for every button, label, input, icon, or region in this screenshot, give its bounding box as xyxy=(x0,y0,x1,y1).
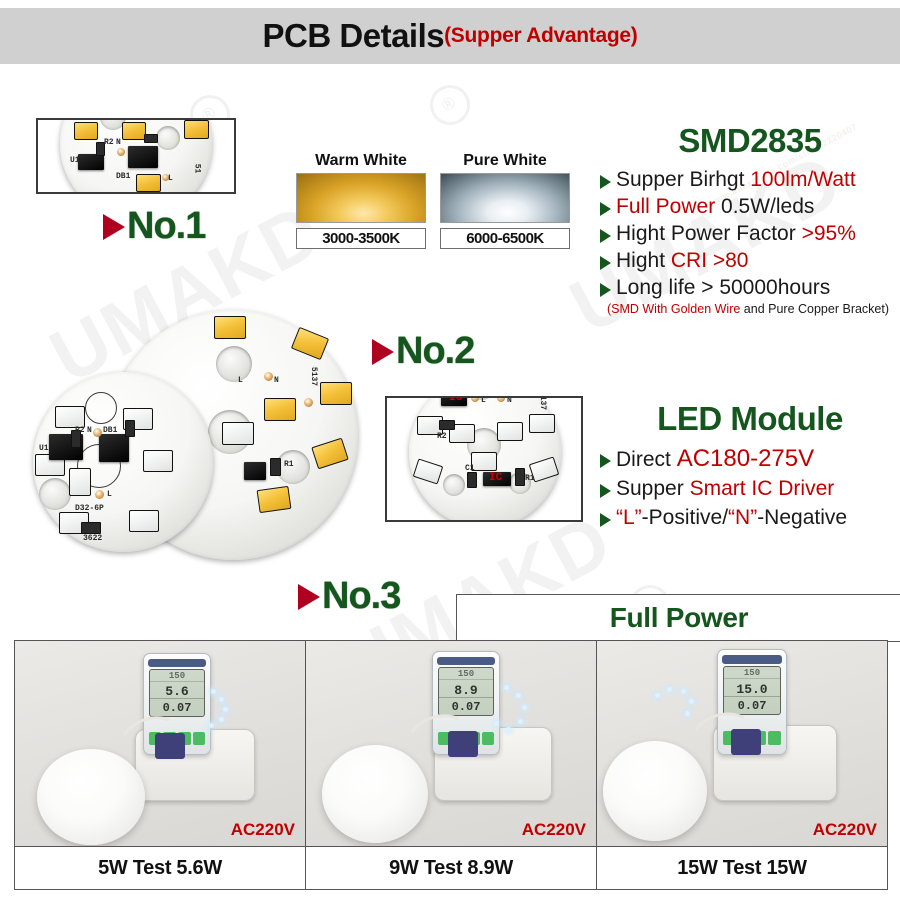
mounting-hole xyxy=(156,126,180,150)
meter-lcd: 150 8.9 0.07 xyxy=(438,667,493,716)
spec-text: 0.5W/leds xyxy=(715,195,814,218)
color-temperature-group: Warm White 3000-3500K Pure White 6000-65… xyxy=(296,152,570,249)
led-chip xyxy=(143,450,173,472)
led-chip xyxy=(311,438,349,470)
resistor xyxy=(515,468,525,486)
silkscreen-u1: U1 xyxy=(39,444,49,453)
meter-line-3: 0.07 xyxy=(439,701,492,713)
marker-no3: No.3 xyxy=(298,575,400,618)
mounting-hole xyxy=(443,474,465,496)
watermark-registered-icon: ® xyxy=(423,78,477,132)
silkscreen-l: L xyxy=(107,490,112,499)
ic-driver xyxy=(128,146,158,168)
led-chip xyxy=(136,174,161,192)
spec-highlight: Full Power xyxy=(616,195,715,218)
page-subtitle: (Supper Advantage) xyxy=(444,24,637,48)
spec-text: Supper xyxy=(616,477,690,500)
swatch-pure-white xyxy=(440,173,570,223)
meter-line-1: 150 xyxy=(150,672,203,682)
silkscreen-n: N xyxy=(87,426,92,435)
product-detail-page: UMAKD UMAKD UMAKD ® ® ® www.aliexpress.c… xyxy=(0,0,900,900)
meter-top-bar xyxy=(722,655,782,663)
meter-top-bar xyxy=(148,659,206,667)
led-module-panel: LED Module Direct AC180-275V Supper Smar… xyxy=(600,400,900,532)
smd-panel-note: (SMD With Golden Wire and Pure Copper Br… xyxy=(596,302,900,316)
meter-lcd: 150 15.0 0.07 xyxy=(723,666,780,716)
kelvin-label: 6000-6500K xyxy=(440,228,570,249)
solder-pad xyxy=(304,398,313,407)
silkscreen-c1: C1 xyxy=(465,464,475,473)
led-bulb-plate xyxy=(37,749,145,845)
swatch-title: Warm White xyxy=(296,152,426,170)
pcb-board: DB1 IC R2 L N 5137 C1 R1 IC + − xyxy=(409,396,561,522)
spec-row: “L”-Positive/“N”-Negative xyxy=(600,505,900,530)
silkscreen-u1: U1 xyxy=(70,156,80,165)
spec-text-2: -Negative xyxy=(757,506,847,529)
ic-driver xyxy=(99,434,129,462)
led-chip xyxy=(320,382,352,405)
led-chip xyxy=(222,422,254,445)
triangle-bullet-icon xyxy=(600,283,611,297)
spec-text: Long life > 50000hours xyxy=(616,276,830,299)
meter-line-2: 8.9 xyxy=(439,684,492,698)
led-chip xyxy=(69,468,91,496)
spec-highlight: Smart IC Driver xyxy=(690,477,835,500)
silkscreen-db1: DB1 xyxy=(433,396,447,401)
spec-highlight: 100lm/Watt xyxy=(750,168,855,191)
meter-line-2: 5.6 xyxy=(150,685,203,699)
silkscreen-l: L xyxy=(238,376,243,385)
note-part-a: (SMD With Golden Wire xyxy=(607,302,740,316)
led-chip xyxy=(74,122,98,140)
triangle-bullet-icon xyxy=(600,202,611,216)
led-chip xyxy=(257,486,292,513)
mounting-hole xyxy=(39,478,71,510)
resistor xyxy=(270,458,281,476)
triangle-bullet-icon xyxy=(600,175,611,189)
smd-spec-panel: SMD2835 Supper Birhgt 100lm/Watt Full Po… xyxy=(600,122,900,316)
polarity-plus-icon: + xyxy=(471,396,483,398)
silkscreen-r2: R2 xyxy=(104,138,114,147)
test-photo: 150 8.9 0.07 AC220V xyxy=(306,641,596,846)
spec-row: Supper Smart IC Driver xyxy=(600,476,900,501)
silkscreen-51: 51 xyxy=(192,164,201,174)
triangle-bullet-icon xyxy=(298,584,320,610)
resistor xyxy=(144,134,158,143)
annotation-ic-bottom: IC xyxy=(489,472,502,484)
marker-no1-label: No.1 xyxy=(127,205,205,248)
pcb-board: U1 R2 N DB1 L 51 xyxy=(60,118,212,194)
led-chip xyxy=(214,316,246,339)
spec-highlight-2: “N” xyxy=(728,506,757,529)
note-part-b: and Pure Copper Bracket) xyxy=(740,302,889,316)
led-bulb-plate xyxy=(322,745,428,843)
silkscreen-r1: R1 xyxy=(525,474,535,483)
spec-text: Direct xyxy=(616,448,677,471)
silkscreen-db1: DB1 xyxy=(116,172,130,181)
spec-highlight: CRI xyxy=(671,249,707,272)
meter-lcd: 150 5.6 0.07 xyxy=(149,669,204,717)
marker-no3-label: No.3 xyxy=(322,575,400,618)
pcb-board-cool: U1 R2 N DB1 L D32-6P 3622 xyxy=(33,372,213,552)
silkscreen-5137: 5137 xyxy=(538,396,547,410)
silkscreen-r2: R2 xyxy=(437,432,447,441)
power-test-table: 150 5.6 0.07 AC220V 5W Test 5.6W xyxy=(14,640,888,890)
annotation-ic-top: IC xyxy=(449,396,462,404)
color-temperature-warm: Warm White 3000-3500K xyxy=(296,152,426,249)
spec-row: Hight Power Factor >95% xyxy=(600,221,900,246)
silkscreen-l: L xyxy=(168,174,173,183)
resistor xyxy=(125,420,135,437)
test-caption: 5W Test 5.6W xyxy=(15,846,305,889)
full-power-label: Full Power xyxy=(610,602,749,634)
spec-highlight: “L” xyxy=(616,506,642,529)
solder-pad xyxy=(93,428,102,437)
spec-highlight: >95% xyxy=(802,222,856,245)
meter-line-2: 15.0 xyxy=(724,683,779,697)
mounting-hole xyxy=(216,346,252,382)
voltage-label: AC220V xyxy=(522,820,586,840)
led-chip xyxy=(122,122,146,140)
triangle-bullet-icon xyxy=(600,454,611,468)
marker-no2: No.2 xyxy=(372,330,474,373)
solder-pad xyxy=(497,396,505,402)
test-cell: 150 5.6 0.07 AC220V 5W Test 5.6W xyxy=(15,641,306,889)
swatch-title: Pure White xyxy=(440,152,570,170)
test-photo: 150 5.6 0.07 AC220V xyxy=(15,641,305,846)
meter-line-1: 150 xyxy=(439,670,492,680)
test-cell: 150 15.0 0.07 AC220V 15W Test 15W xyxy=(597,641,887,889)
led-chip xyxy=(184,120,209,139)
spec-row: Hight CRI >80 xyxy=(600,248,900,273)
spec-text: Hight xyxy=(616,249,671,272)
silkscreen-3622: 3622 xyxy=(83,534,102,543)
silkscreen-n: N xyxy=(274,376,279,385)
solder-pad xyxy=(117,148,125,156)
meter-line-3: 0.07 xyxy=(150,702,203,714)
led-chip xyxy=(55,406,85,428)
voltage-label: AC220V xyxy=(813,820,877,840)
triangle-bullet-icon xyxy=(600,229,611,243)
pcb-photo-no1: U1 R2 N DB1 L 51 xyxy=(36,118,236,194)
led-chip xyxy=(413,458,444,484)
color-temperature-pure: Pure White 6000-6500K xyxy=(440,152,570,249)
spec-row: Direct AC180-275V xyxy=(600,446,900,472)
triangle-bullet-icon xyxy=(600,256,611,270)
led-chip xyxy=(529,414,555,433)
led-chip xyxy=(291,327,329,360)
meter-top-bar xyxy=(437,657,495,665)
spec-highlight: AC180-275V xyxy=(677,445,814,472)
led-bulb-plate xyxy=(603,741,707,841)
ic-package xyxy=(244,462,266,480)
silkscreen-r2: R2 xyxy=(75,426,85,435)
triangle-bullet-icon xyxy=(103,214,125,240)
pcb-photo-no2: DB1 IC R2 L N 5137 C1 R1 IC + − xyxy=(385,396,583,522)
spec-text: Supper Birhgt xyxy=(616,168,750,191)
ic-package xyxy=(78,154,104,170)
solder-pad xyxy=(471,396,479,402)
silkscreen-r1: R1 xyxy=(284,460,294,469)
test-photo: 150 15.0 0.07 AC220V xyxy=(597,641,887,846)
silkscreen-5137: 5137 xyxy=(309,367,318,386)
swatch-warm-white xyxy=(296,173,426,223)
voltage-label: AC220V xyxy=(231,820,295,840)
marker-no1: No.1 xyxy=(103,205,205,248)
meter-line-3: 0.07 xyxy=(724,700,779,712)
spec-row: Long life > 50000hours xyxy=(600,275,900,300)
spec-row: Full Power 0.5W/leds xyxy=(600,194,900,219)
full-power-banner: Full Power xyxy=(456,594,900,642)
smd-panel-title: SMD2835 xyxy=(600,122,900,160)
meter-line-1: 150 xyxy=(724,669,779,679)
kelvin-label: 3000-3500K xyxy=(296,228,426,249)
spec-text: -Positive/ xyxy=(642,506,728,529)
resistor xyxy=(467,472,477,488)
silkscreen-ring xyxy=(85,392,117,424)
spec-text: Hight Power Factor xyxy=(616,222,802,245)
resistor xyxy=(81,522,101,534)
test-cell: 150 8.9 0.07 AC220V 9W Test 8.9W xyxy=(306,641,597,889)
led-module-title: LED Module xyxy=(600,400,900,438)
test-caption: 9W Test 8.9W xyxy=(306,846,596,889)
triangle-bullet-icon xyxy=(600,484,611,498)
spec-value: >80 xyxy=(707,249,748,272)
triangle-bullet-icon xyxy=(600,513,611,527)
polarity-minus-icon: − xyxy=(509,396,521,398)
silkscreen-d32-6p: D32-6P xyxy=(75,504,104,513)
silkscreen-db1: DB1 xyxy=(103,426,117,435)
solder-pad xyxy=(264,372,273,381)
resistor xyxy=(439,420,455,430)
led-chip xyxy=(129,510,159,532)
led-chip xyxy=(497,422,523,441)
led-chip xyxy=(264,398,296,421)
marker-no2-label: No.2 xyxy=(396,330,474,373)
page-title: PCB Details xyxy=(263,17,445,55)
page-header: PCB Details (Supper Advantage) xyxy=(0,8,900,64)
triangle-bullet-icon xyxy=(372,339,394,365)
test-caption: 15W Test 15W xyxy=(597,846,887,889)
spec-row: Supper Birhgt 100lm/Watt xyxy=(600,167,900,192)
silkscreen-n: N xyxy=(116,138,121,147)
solder-pad xyxy=(95,490,104,499)
